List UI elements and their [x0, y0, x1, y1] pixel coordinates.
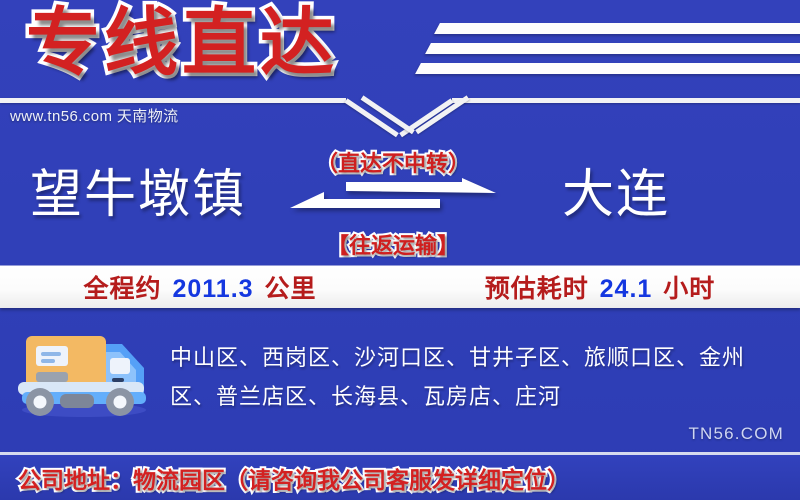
round-trip-badge: 【往返运输】 [288, 228, 498, 260]
decorative-stripe-3 [415, 63, 800, 74]
duration-unit: 小时 [663, 275, 715, 303]
website-label: www.tn56.com 天南物流 [10, 105, 179, 126]
origin-city-label: 望牛墩镇 [30, 156, 246, 234]
direct-service-badge: （直达不中转） [288, 146, 498, 178]
distance-stat: 全程约 2011.3 公里 [0, 269, 400, 305]
arrow-right-icon [346, 178, 496, 200]
decorative-stripe-2 [425, 43, 800, 54]
distance-label: 全程约 [83, 275, 161, 303]
coverage-section: 中山区、西岗区、沙河口区、甘井子区、旅顺口区、金州区、普兰店区、长海县、瓦房店、… [0, 312, 800, 442]
distance-unit: 公里 [265, 275, 317, 303]
route-row: 望牛墩镇 （直达不中转） 【往返运输】 大连 [0, 140, 800, 265]
divider-right-segment [452, 98, 800, 103]
duration-value: 24.1 [597, 275, 656, 303]
bidirectional-arrow-group [290, 182, 496, 224]
covered-districts-text: 中山区、西岗区、沙河口区、甘井子区、旅顺口区、金州区、普兰店区、长海县、瓦房店、… [170, 338, 770, 416]
company-address-label: 公司地址：物流园区（请咨询我公司客服发详细定位） [0, 461, 570, 495]
route-middle-block: （直达不中转） 【往返运输】 [288, 140, 498, 265]
duration-label: 预估耗时 [485, 275, 589, 303]
destination-city-label: 大连 [562, 156, 670, 234]
watermark-label: TN56.COM [688, 424, 784, 444]
footer-bar: 公司地址：物流园区（请咨询我公司客服发详细定位） [0, 455, 800, 500]
decorative-stripe-1 [434, 23, 800, 34]
page-title: 专线直达 [26, 6, 338, 80]
divider-left-segment [0, 98, 346, 103]
stats-bar: 全程约 2011.3 公里 预估耗时 24.1 小时 [0, 266, 800, 308]
logistics-route-poster: 专线直达 www.tn56.com 天南物流 望牛墩镇 （直达不中转） [0, 0, 800, 500]
distance-value: 2011.3 [169, 275, 256, 303]
duration-stat: 预估耗时 24.1 小时 [400, 269, 800, 305]
delivery-truck-icon [8, 322, 158, 422]
